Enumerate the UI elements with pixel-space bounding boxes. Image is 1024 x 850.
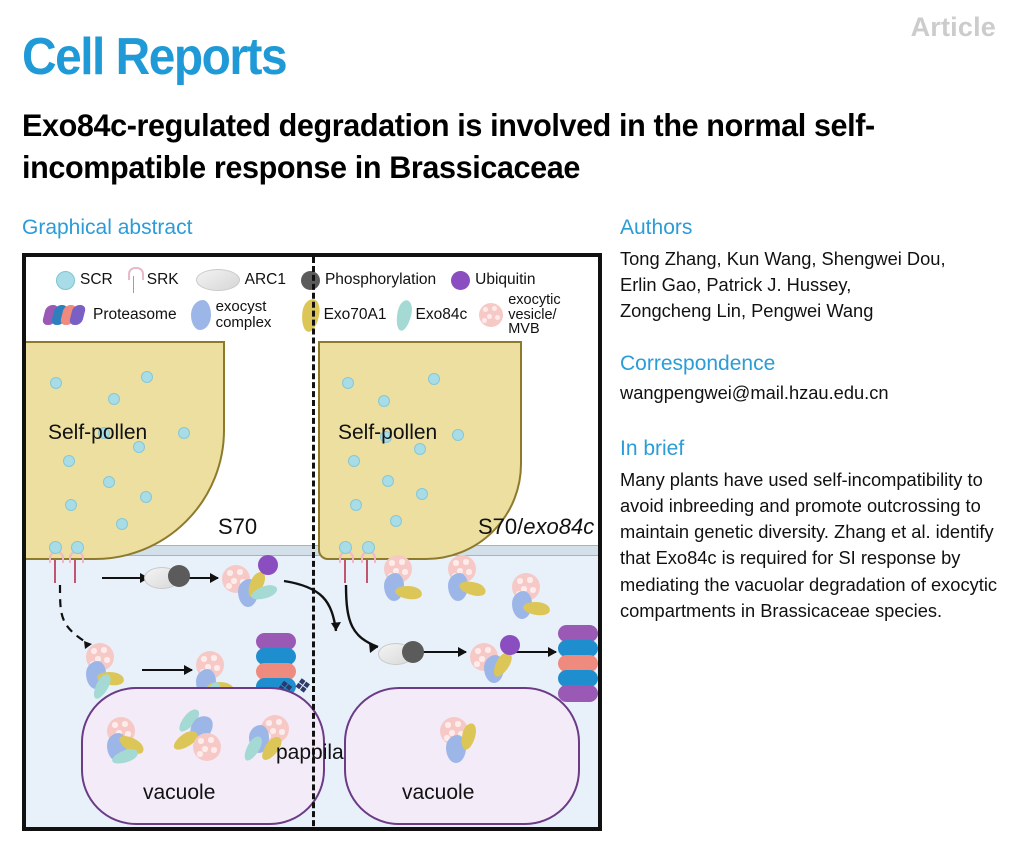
in-brief-block: In brief Many plants have used self-inco… — [620, 437, 1015, 624]
panel-label-right: S70/exo84c — [478, 514, 594, 540]
self-pollen-label-right: Self-pollen — [338, 421, 437, 445]
authors-line: Erlin Gao, Patrick J. Hussey, — [620, 272, 1015, 298]
legend-label: exocytic vesicle/ MVB — [508, 293, 570, 338]
authors-block: Authors Tong Zhang, Kun Wang, Shengwei D… — [620, 216, 1015, 324]
legend-item-arc1: ARC1 — [196, 269, 286, 291]
vesicle-exocyst-complex — [382, 555, 434, 599]
scr-circle-icon — [71, 541, 84, 554]
panel-label-right-italic: exo84c — [523, 514, 594, 539]
ubiquitin-circle-icon — [451, 271, 470, 290]
arc1-complex — [144, 565, 190, 589]
legend-label: SRK — [147, 272, 179, 288]
authors-list: Tong Zhang, Kun Wang, Shengwei Dou, Erli… — [620, 246, 1015, 324]
vacuole-label-left: vacuole — [143, 781, 215, 805]
reaction-arrow — [420, 651, 466, 653]
phosphorylation-circle-icon — [301, 271, 320, 290]
article-type-kicker: Article — [911, 12, 996, 43]
correspondence-heading: Correspondence — [620, 352, 1015, 376]
exo84c-icon — [393, 298, 413, 331]
legend-item-exocyst-complex: exocyst complex — [191, 299, 294, 330]
srk-receptor — [48, 549, 62, 583]
correspondence-block: Correspondence wangpengwei@mail.hzau.edu… — [620, 352, 1015, 404]
in-brief-text: Many plants have used self-incompatibili… — [620, 467, 1015, 624]
legend-label: Ubiquitin — [475, 272, 535, 288]
arc1-ellipse-icon — [196, 269, 240, 291]
proteasome-icon — [44, 304, 88, 326]
in-brief-heading: In brief — [620, 437, 1015, 461]
vesicle-exocyst-complex — [446, 555, 498, 599]
scr-circle-icon — [362, 541, 375, 554]
legend-label: Proteasome — [93, 307, 177, 323]
legend-label: Exo70A1 — [324, 307, 387, 323]
scr-circle-icon — [56, 271, 75, 290]
srk-receptor — [338, 549, 352, 583]
self-pollen-label-left: Self-pollen — [48, 421, 147, 445]
legend-label: ARC1 — [245, 272, 286, 288]
vesicle-exocyst-complex — [470, 637, 522, 681]
pathway-diagram: S70 Self-pollen Self-pollen S70/exo84c — [26, 349, 598, 831]
scr-circle-icon — [339, 541, 352, 554]
page-title: Exo84c-regulated degradation is involved… — [22, 105, 977, 189]
vacuole-right: vacuole — [344, 687, 580, 825]
legend-item-exocytic-vesicle: exocytic vesicle/ MVB — [479, 293, 570, 338]
srk-receptor — [68, 549, 82, 583]
legend-label: SCR — [80, 272, 113, 288]
exocytic-vesicle-mvb-icon — [479, 303, 503, 327]
arc1-complex — [378, 641, 424, 665]
legend-item-exo84c: Exo84c — [397, 300, 468, 331]
legend-item-phosphorylation: Phosphorylation — [301, 271, 436, 290]
scr-circle-icon — [49, 541, 62, 554]
authors-line: Zongcheng Lin, Pengwei Wang — [620, 298, 1015, 324]
authors-heading: Authors — [620, 216, 1015, 240]
legend-label: Phosphorylation — [325, 272, 436, 288]
reaction-arrow — [102, 577, 148, 579]
proteasome — [558, 625, 598, 703]
srk-receptor — [360, 549, 374, 583]
legend-label: exocyst complex — [216, 299, 294, 330]
legend-item-ubiquitin: Ubiquitin — [451, 271, 535, 290]
panel-label-left: S70 — [218, 514, 257, 540]
legend-item-proteasome: Proteasome — [44, 304, 177, 326]
graphical-abstract-figure: SCR SRK ARC1 Phosphorylation Ubiquitin — [22, 253, 602, 831]
vesicle-exocyst-complex — [510, 573, 562, 617]
legend-item-srk: SRK — [126, 267, 179, 293]
reaction-arrow — [142, 669, 192, 671]
legend-label: Exo84c — [416, 307, 468, 323]
journal-logo: Cell Reports — [22, 27, 286, 87]
graphical-abstract-heading: Graphical abstract — [22, 216, 192, 240]
exocyst-complex-icon — [191, 300, 211, 330]
legend-item-scr: SCR — [56, 271, 113, 290]
authors-line: Tong Zhang, Kun Wang, Shengwei Dou, — [620, 246, 1015, 272]
correspondence-email[interactable]: wangpengwei@mail.hzau.edu.cn — [620, 382, 1015, 404]
papilla-label: pappila — [276, 741, 344, 765]
exo70a1-icon — [299, 297, 320, 332]
vacuole-label-right: vacuole — [402, 781, 474, 805]
vesicle-exocyst-complex — [84, 643, 136, 687]
srk-receptor-icon — [126, 267, 142, 293]
vesicle-exocyst-complex — [222, 561, 274, 605]
panel-label-right-plain: S70/ — [478, 514, 523, 539]
